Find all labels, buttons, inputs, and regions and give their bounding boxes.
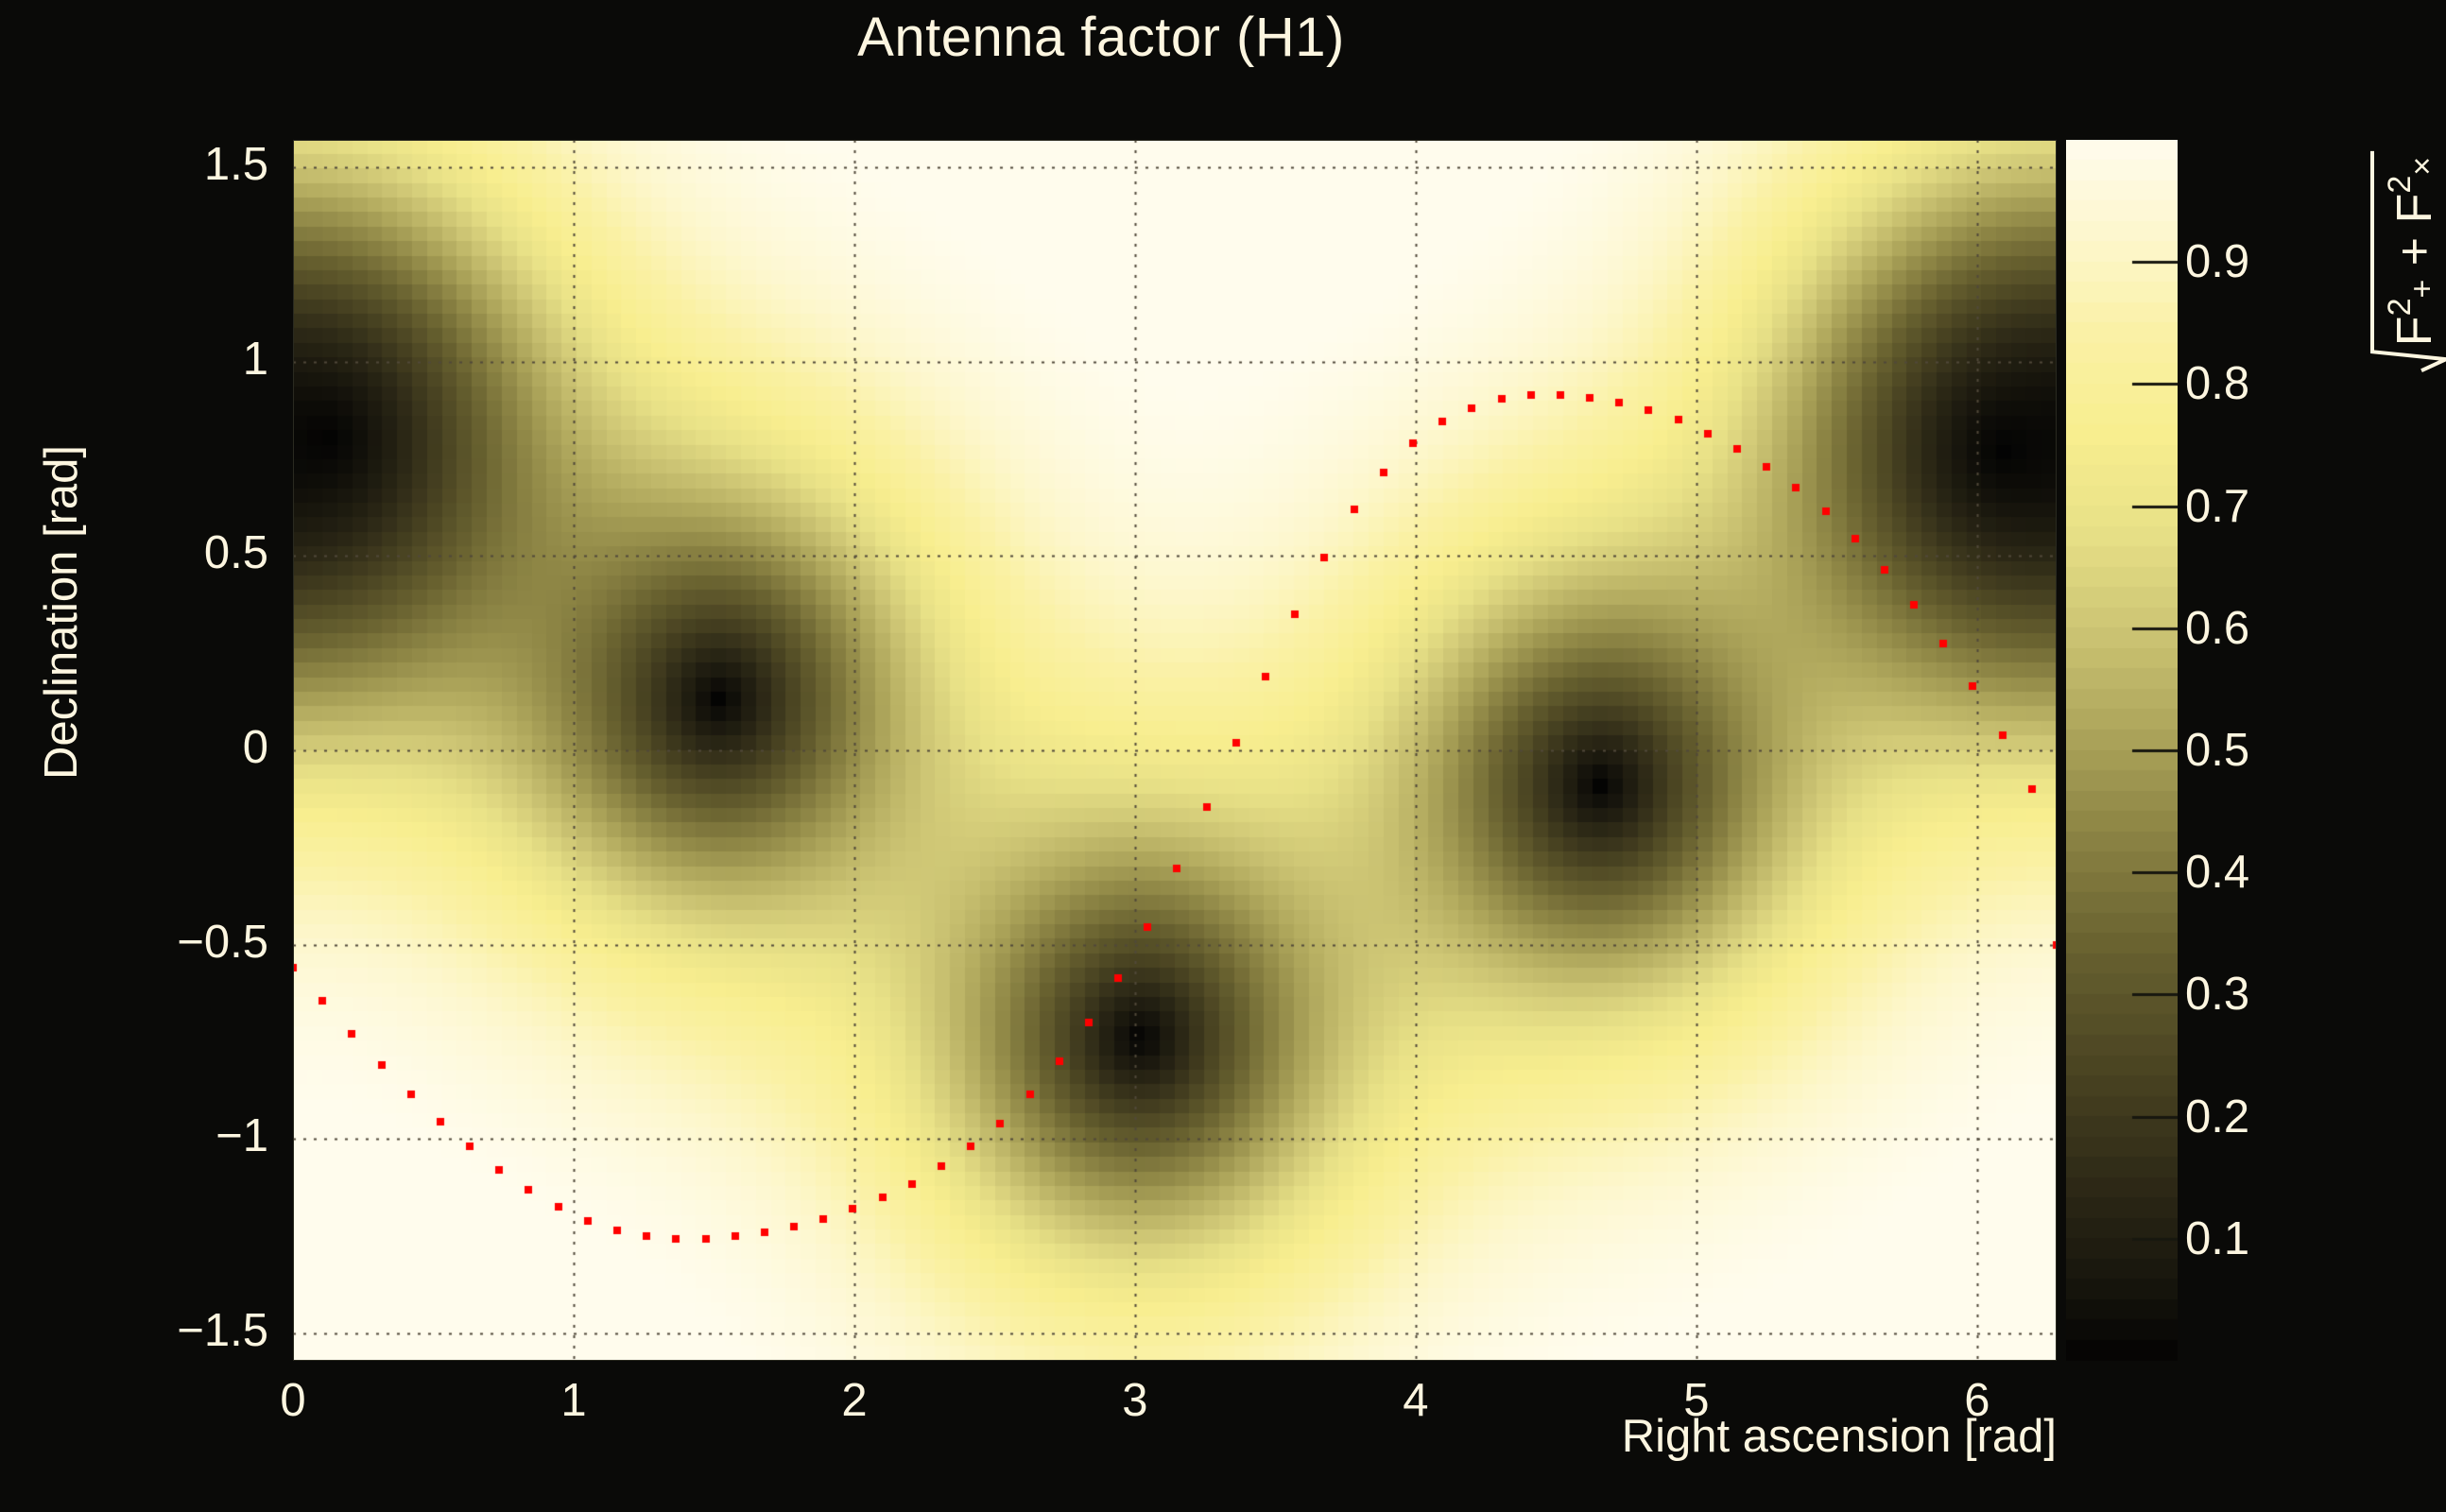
- x-tick-label: 1: [498, 1374, 649, 1427]
- colorbar-tick-label: 0.8: [2185, 357, 2249, 410]
- y-tick-label: 1.5: [108, 138, 268, 191]
- y-tick-label: 0.5: [108, 526, 268, 579]
- x-tick-label: 2: [779, 1374, 930, 1427]
- y-tick-label: −1.5: [108, 1304, 268, 1357]
- colorbar-tick-label: 0.4: [2185, 846, 2249, 899]
- colorbar-tick-label: 0.5: [2185, 724, 2249, 777]
- y-tick-label: −1: [108, 1109, 268, 1162]
- colorbar-tick-label: 0.6: [2185, 602, 2249, 655]
- y-tick-label: 0: [108, 721, 268, 774]
- galactic-plane-track: [293, 140, 2057, 1361]
- x-axis-label: Right ascension [rad]: [1096, 1410, 2057, 1463]
- y-tick-label: −0.5: [108, 916, 268, 969]
- svg-text:F2+ + F2×: F2+ + F2×: [2382, 157, 2442, 346]
- plot-canvas: Antenna factor (H1) 1.510.50−0.5−1−1.5 0…: [0, 0, 2446, 1512]
- colorbar-tickmarks: [2066, 140, 2178, 1361]
- colorbar-tick-label: 0.2: [2185, 1091, 2249, 1143]
- colorbar: [2066, 140, 2178, 1361]
- colorbar-tick-label: 0.7: [2185, 480, 2249, 533]
- colorbar-tick-label: 0.1: [2185, 1212, 2249, 1265]
- x-tick-label: 0: [217, 1374, 369, 1427]
- colorbar-tick-label: 0.9: [2185, 235, 2249, 288]
- page-title: Antenna factor (H1): [0, 6, 2202, 69]
- y-axis-label: Declination [rad]: [35, 348, 88, 877]
- heatmap-plot-area: [293, 140, 2057, 1361]
- y-tick-label: 1: [108, 333, 268, 386]
- y-axis-label-wrap: Declination [rad]: [0, 0, 1, 1]
- colorbar-axis-label: F2+ + F2×: [2255, 91, 2446, 412]
- colorbar-tick-label: 0.3: [2185, 968, 2249, 1021]
